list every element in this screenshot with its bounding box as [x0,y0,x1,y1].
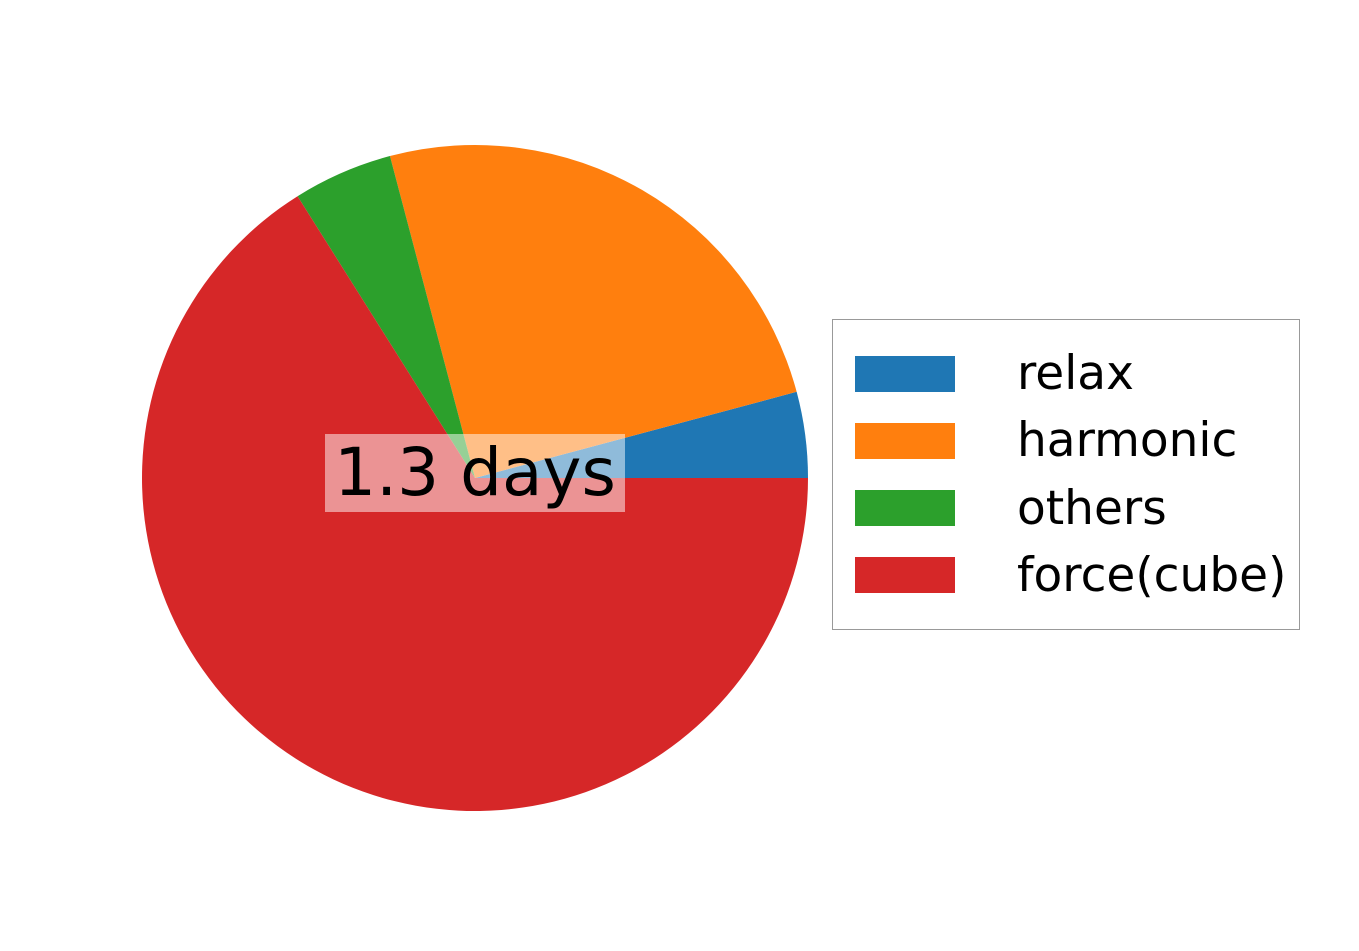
legend-item-label: others [1017,485,1167,532]
legend-box: relaxharmonicothersforce(cube) [832,319,1300,630]
figure-canvas: 1.3 days relaxharmonicothersforce(cube) [0,0,1359,951]
legend-color-swatch-icon [855,557,955,593]
legend-color-swatch-icon [855,356,955,392]
legend-color-swatch-icon [855,423,955,459]
legend-item-others[interactable]: others [833,477,1299,539]
legend-items: relaxharmonicothersforce(cube) [833,320,1299,629]
pie-center-label: 1.3 days [325,434,625,512]
legend-item-label: relax [1017,350,1134,397]
legend-item-relax[interactable]: relax [833,343,1299,405]
legend-item-force-cube-[interactable]: force(cube) [833,544,1299,606]
legend-item-label: harmonic [1017,417,1237,464]
legend-item-label: force(cube) [1017,552,1286,599]
legend-item-harmonic[interactable]: harmonic [833,410,1299,472]
legend-color-swatch-icon [855,490,955,526]
